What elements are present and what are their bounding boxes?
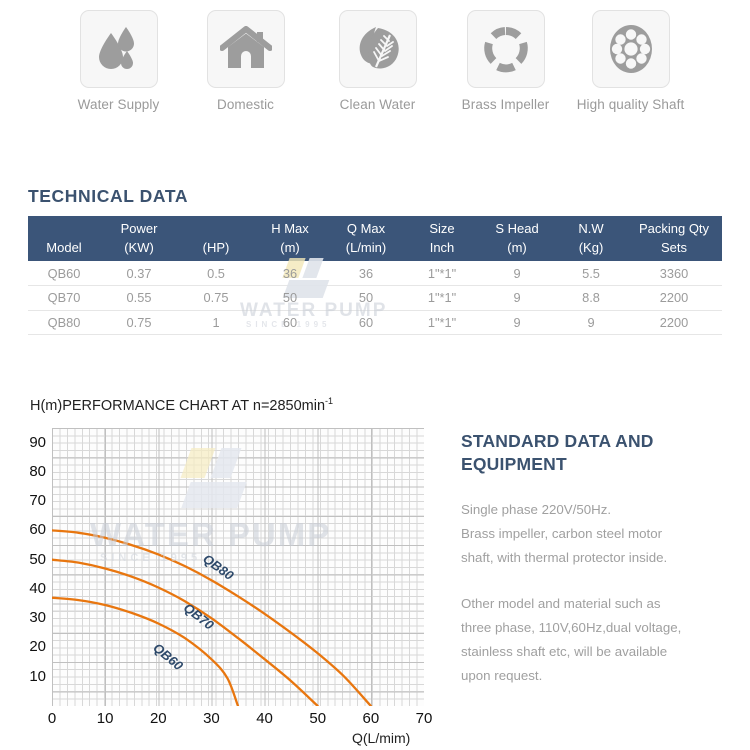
std-p2-line4: upon request. <box>461 664 733 688</box>
table-header: Model Power(KW) (HP) H Max(m) Q Max(L/mi… <box>28 216 722 261</box>
shaft-bearing-icon <box>592 10 670 88</box>
cell-power-hp: 0.5 <box>178 261 254 286</box>
chart-x-tick: 0 <box>32 710 72 727</box>
std-p2-line2: three phase, 110V,60Hz,dual voltage, <box>461 616 733 640</box>
header-q-max: Q Max(L/min) <box>326 216 406 261</box>
leaf-icon <box>339 10 417 88</box>
cell-model: QB60 <box>28 261 100 286</box>
chart-y-axis: 102030405060708090 <box>8 428 46 706</box>
cell-power-kw: 0.75 <box>100 310 178 335</box>
header-nw: N.W(Kg) <box>556 216 626 261</box>
cell-h-max: 36 <box>254 261 326 286</box>
cell-h-max: 60 <box>254 310 326 335</box>
chart-x-tick: 20 <box>138 710 178 727</box>
cell-power-hp: 0.75 <box>178 286 254 311</box>
feature-label: High quality Shaft <box>552 97 709 112</box>
chart-x-tick: 40 <box>245 710 285 727</box>
chart-x-tick: 30 <box>191 710 231 727</box>
cell-power-kw: 0.55 <box>100 286 178 311</box>
standard-data-body: Single phase 220V/50Hz. Brass impeller, … <box>461 498 733 688</box>
chart-y-tick: 10 <box>12 668 46 685</box>
chart-curves <box>52 428 424 706</box>
cell-model: QB70 <box>28 286 100 311</box>
chart-y-tick: 70 <box>12 492 46 509</box>
product-spec-page: Water Supply Domestic <box>0 0 750 750</box>
table-row: QB70 0.55 0.75 50 50 1"*1" 9 8.8 2200 <box>28 286 722 311</box>
cell-s-head: 9 <box>478 310 556 335</box>
header-packing-qty: Packing QtySets <box>626 216 722 261</box>
impeller-ring-icon <box>467 10 545 88</box>
header-h-max: H Max(m) <box>254 216 326 261</box>
chart-y-tick: 40 <box>12 580 46 597</box>
std-p1-line1: Single phase 220V/50Hz. <box>461 498 733 522</box>
header-s-head: S Head(m) <box>478 216 556 261</box>
curve-qb60 <box>52 598 238 706</box>
cell-nw: 8.8 <box>556 286 626 311</box>
feature-strip: Water Supply Domestic <box>0 0 750 125</box>
chart-x-tick: 70 <box>404 710 444 727</box>
cell-power-kw: 0.37 <box>100 261 178 286</box>
std-p1-line3: shaft, with thermal protector inside. <box>461 546 733 570</box>
table-body: QB60 0.37 0.5 36 36 1"*1" 9 5.5 3360 QB7… <box>28 261 722 335</box>
cell-model: QB80 <box>28 310 100 335</box>
std-p1-line2: Brass impeller, carbon steel motor <box>461 522 733 546</box>
chart-y-tick: 60 <box>12 521 46 538</box>
table-row: QB80 0.75 1 60 60 1"*1" 9 9 2200 <box>28 310 722 335</box>
chart-x-tick: 60 <box>351 710 391 727</box>
cell-power-hp: 1 <box>178 310 254 335</box>
chart-x-axis: 010203040506070 <box>52 710 452 732</box>
house-icon <box>207 10 285 88</box>
cell-h-max: 50 <box>254 286 326 311</box>
header-power-hp: (HP) <box>178 216 254 261</box>
chart-y-tick: 50 <box>12 551 46 568</box>
chart-x-axis-label: Q(L/mim) <box>352 730 410 746</box>
feature-item-high-quality-shaft[interactable]: High quality Shaft <box>552 10 709 112</box>
cell-q-max: 60 <box>326 310 406 335</box>
cell-nw: 9 <box>556 310 626 335</box>
cell-q-max: 50 <box>326 286 406 311</box>
chart-y-tick: 80 <box>12 463 46 480</box>
std-p2-line1: Other model and material such as <box>461 592 733 616</box>
technical-data-title: TECHNICAL DATA <box>28 186 188 207</box>
header-size: SizeInch <box>406 216 478 261</box>
chart-y-tick: 20 <box>12 638 46 655</box>
curve-qb70 <box>52 560 318 706</box>
cell-size: 1"*1" <box>406 286 478 311</box>
cell-s-head: 9 <box>478 261 556 286</box>
cell-size: 1"*1" <box>406 261 478 286</box>
cell-packing: 2200 <box>626 286 722 311</box>
chart-x-tick: 50 <box>298 710 338 727</box>
cell-size: 1"*1" <box>406 310 478 335</box>
table-header-row: Model Power(KW) (HP) H Max(m) Q Max(L/mi… <box>28 216 722 261</box>
chart-y-tick: 30 <box>12 609 46 626</box>
chart-title: H(m)PERFORMANCE CHART AT n=2850min-1 <box>30 396 333 414</box>
table-row: QB60 0.37 0.5 36 36 1"*1" 9 5.5 3360 <box>28 261 722 286</box>
std-p2-line3: stainless shaft etc, will be available <box>461 640 733 664</box>
cell-nw: 5.5 <box>556 261 626 286</box>
standard-data-title: STANDARD DATA AND EQUIPMENT <box>461 430 723 476</box>
chart-title-text: H(m)PERFORMANCE CHART AT n=2850min <box>30 398 325 414</box>
cell-packing: 2200 <box>626 310 722 335</box>
cell-q-max: 36 <box>326 261 406 286</box>
header-model: Model <box>28 216 100 261</box>
cell-packing: 3360 <box>626 261 722 286</box>
chart-plot-area: WATER PUMP SINCE 1995 QB80 QB70 QB60 <box>52 428 424 706</box>
header-power-kw: Power(KW) <box>100 216 178 261</box>
chart-x-tick: 10 <box>85 710 125 727</box>
technical-data-table: Model Power(KW) (HP) H Max(m) Q Max(L/mi… <box>28 216 722 335</box>
chart-title-exponent: -1 <box>325 396 333 406</box>
water-drops-icon <box>80 10 158 88</box>
chart-y-tick: 90 <box>12 434 46 451</box>
cell-s-head: 9 <box>478 286 556 311</box>
